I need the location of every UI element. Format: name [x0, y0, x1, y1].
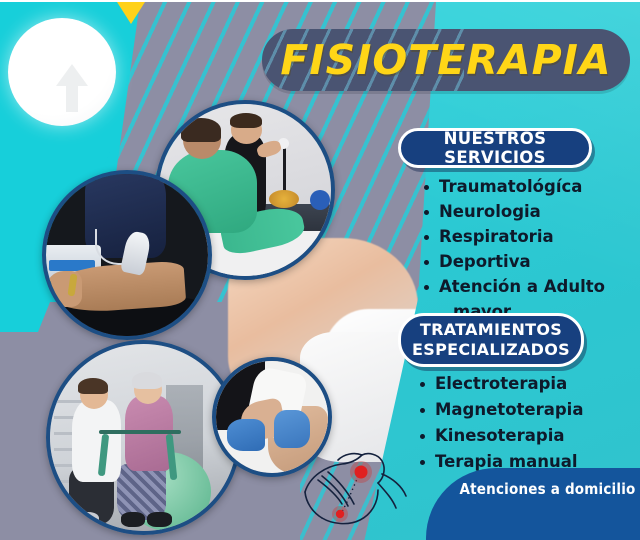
photo-c-content [50, 344, 237, 531]
pain-point-lower [336, 510, 344, 518]
treatment-label: Kinesoterapia [435, 426, 565, 445]
list-item: Electroterapia [418, 374, 628, 393]
service-label: Deportiva [439, 252, 531, 271]
pain-point-upper [355, 466, 368, 479]
treatments-heading-badge: TRATAMIENTOS ESPECIALIZADOS [398, 313, 584, 367]
list-item: Kinesoterapia [418, 426, 628, 445]
treatments-heading-wrap: TRATAMIENTOS ESPECIALIZADOS [412, 320, 570, 360]
treatment-label: Electroterapia [435, 374, 567, 393]
list-item: Deportiva [422, 252, 627, 271]
treatments-list: Electroterapia Magnetoterapia Kinesotera… [418, 374, 628, 478]
services-list: Traumatológíca Neurologia Respiratoria D… [422, 177, 627, 327]
photo-resistance-band-exercise-elderly [46, 340, 241, 535]
treatment-label: Magnetoterapia [435, 400, 583, 419]
services-heading-badge: NUESTROS SERVICIOS [398, 128, 592, 168]
service-label: Neurologia [439, 202, 541, 221]
fisioterapia-poster: FISIOTERAPIA NUESTROS SERVICIOS Traumato… [0, 0, 640, 540]
photo-b-content [46, 174, 208, 336]
home-service-note: Atenciones a domicilio [455, 480, 640, 498]
treatments-heading-line1: TRATAMIENTOS [420, 320, 562, 339]
home-service-banner [426, 468, 640, 540]
list-item: Atención a Adulto [422, 277, 627, 296]
logo-mark-icon [42, 60, 102, 118]
service-label: Atención a Adulto [439, 277, 605, 296]
services-heading-text: NUESTROS SERVICIOS [401, 129, 589, 167]
list-item: Traumatológíca [422, 177, 627, 196]
list-item: Magnetoterapia [418, 400, 628, 419]
list-item: Neurologia [422, 202, 627, 221]
clinic-logo-circle [8, 18, 116, 126]
service-label: Respiratoria [439, 227, 554, 246]
photo-leg-ultrasound-therapy [42, 170, 212, 340]
service-label: Traumatológíca [439, 177, 582, 196]
page-title: FISIOTERAPIA [262, 29, 630, 91]
poster-title-band: FISIOTERAPIA [262, 29, 630, 91]
treatments-heading-line2: ESPECIALIZADOS [412, 340, 570, 360]
list-item: Respiratoria [422, 227, 627, 246]
